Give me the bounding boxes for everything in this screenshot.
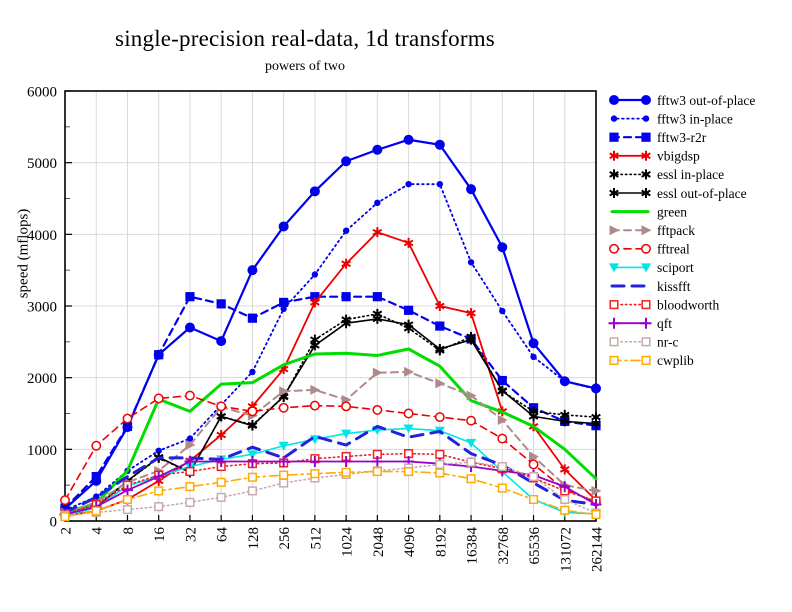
data-point-marker — [529, 338, 539, 348]
data-point-marker — [562, 378, 568, 384]
legend-item-fftw3-out-of-place[interactable]: fftw3 out-of-place — [609, 93, 755, 108]
legend-item-green[interactable]: green — [612, 204, 687, 219]
data-point-marker — [373, 406, 381, 414]
data-point-marker — [92, 507, 100, 515]
grid-lines — [65, 91, 596, 521]
x-tick-label: 4096 — [402, 527, 418, 558]
data-point-marker — [185, 292, 194, 301]
series-fftw3-r2r — [60, 292, 600, 513]
chart-legend: fftw3 out-of-placefftw3 in-placefftw3-r2… — [609, 93, 756, 368]
legend-item-essl-in-place[interactable]: essl in-place — [610, 167, 724, 182]
legend-label: fftw3 in-place — [657, 111, 733, 126]
chart-page: single-precision real-data, 1d transform… — [0, 0, 792, 612]
data-point-marker — [123, 414, 131, 422]
data-point-marker — [436, 451, 444, 459]
data-point-marker — [404, 238, 413, 248]
data-point-marker — [437, 181, 443, 187]
legend-item-qft[interactable]: qft — [609, 316, 673, 331]
data-point-marker — [217, 402, 225, 410]
x-tick-label: 2048 — [371, 527, 387, 557]
data-point-marker — [611, 115, 617, 121]
data-point-marker — [61, 513, 69, 521]
y-axis-label: speed (mflops) — [16, 184, 33, 324]
data-point-marker — [405, 181, 411, 187]
x-axis-ticks: 2481632641282565121024204840968192163843… — [59, 515, 606, 572]
data-point-marker — [404, 409, 412, 417]
data-point-marker — [342, 468, 350, 476]
legend-item-cwplib[interactable]: cwplib — [610, 353, 694, 368]
data-point-marker — [310, 186, 320, 196]
data-point-marker — [642, 301, 650, 309]
series-line — [65, 140, 596, 509]
x-tick-label: 16384 — [465, 527, 481, 565]
x-tick-label: 8192 — [433, 527, 449, 557]
legend-label: fftw3 out-of-place — [657, 93, 755, 108]
x-tick-label: 32768 — [496, 527, 512, 565]
legend-item-fftw3-r2r[interactable]: fftw3-r2r — [609, 130, 706, 145]
data-point-marker — [217, 411, 226, 421]
y-tick-label: 1000 — [27, 443, 57, 459]
x-tick-label: 2 — [59, 527, 75, 535]
chart-subtitle: powers of two — [0, 59, 610, 75]
data-point-marker — [609, 133, 618, 142]
data-point-marker — [561, 506, 569, 514]
data-point-marker — [372, 145, 382, 155]
data-point-marker — [436, 469, 444, 477]
data-point-marker — [248, 314, 257, 323]
legend-item-vbigdsp[interactable]: vbigdsp — [610, 149, 700, 164]
data-point-marker — [124, 506, 132, 514]
series-essl-out-of-place — [61, 314, 601, 521]
legend-label: qft — [657, 316, 672, 331]
data-point-marker — [498, 463, 506, 471]
data-point-marker — [92, 442, 100, 450]
data-point-marker — [467, 458, 475, 466]
data-point-marker — [249, 487, 257, 495]
data-point-marker — [186, 499, 194, 507]
data-point-marker — [92, 472, 101, 481]
data-point-marker — [249, 369, 255, 375]
series-fftw3-in-place — [62, 181, 599, 513]
x-tick-label: 131072 — [558, 527, 574, 572]
legend-label: green — [657, 204, 687, 219]
legend-label: fftreal — [657, 242, 690, 257]
data-point-marker — [311, 470, 319, 478]
chart-plot-area: 0100020003000400050006000 24816326412825… — [0, 0, 792, 612]
data-point-marker — [610, 245, 618, 253]
data-point-marker — [247, 265, 257, 275]
data-point-marker — [61, 496, 69, 504]
series-essl-in-place — [61, 309, 601, 520]
data-point-marker — [343, 228, 349, 234]
y-tick-label: 0 — [50, 515, 58, 531]
legend-label: sciport — [657, 260, 694, 275]
data-point-marker — [530, 496, 538, 504]
chart-title: single-precision real-data, 1d transform… — [0, 26, 610, 52]
data-point-marker — [610, 301, 618, 309]
x-tick-label: 262144 — [590, 527, 606, 573]
data-point-marker — [498, 484, 506, 492]
data-point-marker — [530, 473, 538, 481]
data-point-marker — [610, 338, 618, 346]
data-point-marker — [497, 242, 507, 252]
data-point-marker — [592, 511, 600, 519]
series-line — [65, 426, 596, 512]
x-tick-label: 8 — [121, 527, 137, 535]
data-point-marker — [342, 402, 350, 410]
data-point-marker — [436, 413, 444, 421]
data-point-marker — [642, 245, 650, 253]
x-tick-label: 65536 — [527, 527, 543, 565]
data-point-marker — [530, 354, 536, 360]
data-point-marker — [249, 473, 257, 481]
data-point-marker — [435, 321, 444, 330]
legend-item-fftw3-in-place[interactable]: fftw3 in-place — [611, 111, 733, 126]
data-point-marker — [466, 184, 476, 194]
legend-item-kissfft[interactable]: kissfft — [612, 279, 691, 294]
data-point-marker — [217, 299, 226, 308]
data-point-marker — [404, 306, 413, 315]
x-tick-label: 1024 — [340, 527, 356, 558]
series-line — [65, 472, 596, 517]
data-point-marker — [642, 338, 650, 346]
data-point-marker — [561, 496, 569, 504]
legend-label: kissfft — [657, 279, 691, 294]
data-point-marker — [279, 221, 289, 231]
data-point-marker — [593, 386, 599, 392]
data-point-marker — [404, 135, 414, 145]
data-point-marker — [373, 292, 382, 301]
data-point-marker — [186, 468, 194, 476]
data-point-marker — [435, 140, 445, 150]
legend-label: cwplib — [657, 353, 694, 368]
data-point-marker — [529, 460, 537, 468]
data-point-marker — [341, 156, 351, 166]
data-point-marker — [467, 475, 475, 483]
data-point-marker — [642, 225, 652, 235]
series-fftreal — [61, 391, 600, 505]
legend-label: vbigdsp — [657, 149, 700, 164]
data-point-marker — [609, 95, 619, 105]
data-point-marker — [217, 494, 225, 502]
y-tick-label: 2000 — [27, 371, 57, 387]
x-tick-label: 256 — [277, 527, 293, 550]
data-point-marker — [216, 336, 226, 346]
data-point-marker — [155, 394, 163, 402]
series-line — [65, 396, 596, 502]
x-tick-label: 128 — [246, 527, 262, 550]
data-point-marker — [279, 404, 287, 412]
data-point-marker — [155, 487, 163, 495]
data-point-marker — [280, 471, 288, 479]
x-tick-label: 16 — [152, 527, 168, 543]
series-line — [65, 462, 596, 515]
data-point-marker — [610, 225, 620, 235]
data-point-marker — [499, 308, 505, 314]
legend-item-fftpack[interactable]: fftpack — [610, 223, 696, 238]
legend-item-essl-out-of-place[interactable]: essl out-of-place — [610, 186, 747, 201]
data-point-marker — [641, 318, 652, 329]
y-tick-label: 5000 — [27, 156, 57, 172]
legend-label: bloodworth — [657, 297, 719, 312]
data-point-marker — [279, 298, 288, 307]
data-point-marker — [311, 401, 319, 409]
x-tick-label: 512 — [308, 527, 324, 550]
data-series-group — [60, 135, 602, 521]
legend-item-nr-c[interactable]: nr-c — [610, 335, 678, 350]
data-point-marker — [248, 407, 256, 415]
data-point-marker — [642, 357, 650, 365]
data-point-marker — [155, 503, 163, 511]
data-point-marker — [498, 376, 507, 385]
y-tick-label: 6000 — [27, 85, 57, 101]
data-point-marker — [405, 468, 413, 476]
data-point-marker — [498, 434, 506, 442]
legend-label: essl out-of-place — [657, 186, 747, 201]
data-point-marker — [374, 200, 380, 206]
data-point-marker — [217, 479, 225, 487]
data-point-marker — [185, 323, 195, 333]
data-point-marker — [186, 483, 194, 491]
data-point-marker — [436, 461, 444, 469]
data-point-marker — [468, 259, 474, 265]
data-point-marker — [641, 95, 651, 105]
data-point-marker — [342, 292, 351, 301]
data-point-marker — [609, 318, 620, 329]
data-point-marker — [643, 115, 649, 121]
legend-item-sciport[interactable]: sciport — [609, 260, 694, 275]
series-kissfft — [65, 426, 596, 512]
x-tick-label: 64 — [215, 527, 231, 543]
data-point-marker — [154, 350, 163, 359]
data-point-marker — [374, 468, 382, 476]
x-tick-label: 32 — [183, 527, 199, 542]
data-point-marker — [610, 357, 618, 365]
legend-label: nr-c — [657, 335, 678, 350]
data-point-marker — [467, 416, 475, 424]
legend-label: fftpack — [657, 223, 695, 238]
legend-label: essl in-place — [657, 167, 724, 182]
legend-item-fftreal[interactable]: fftreal — [610, 242, 690, 257]
legend-item-bloodworth[interactable]: bloodworth — [610, 297, 719, 312]
data-point-marker — [186, 391, 194, 399]
data-point-marker — [280, 479, 288, 487]
legend-label: fftw3-r2r — [657, 130, 707, 145]
data-point-marker — [312, 271, 318, 277]
data-point-marker — [124, 496, 132, 504]
x-tick-label: 4 — [90, 527, 106, 535]
data-point-marker — [641, 133, 650, 142]
